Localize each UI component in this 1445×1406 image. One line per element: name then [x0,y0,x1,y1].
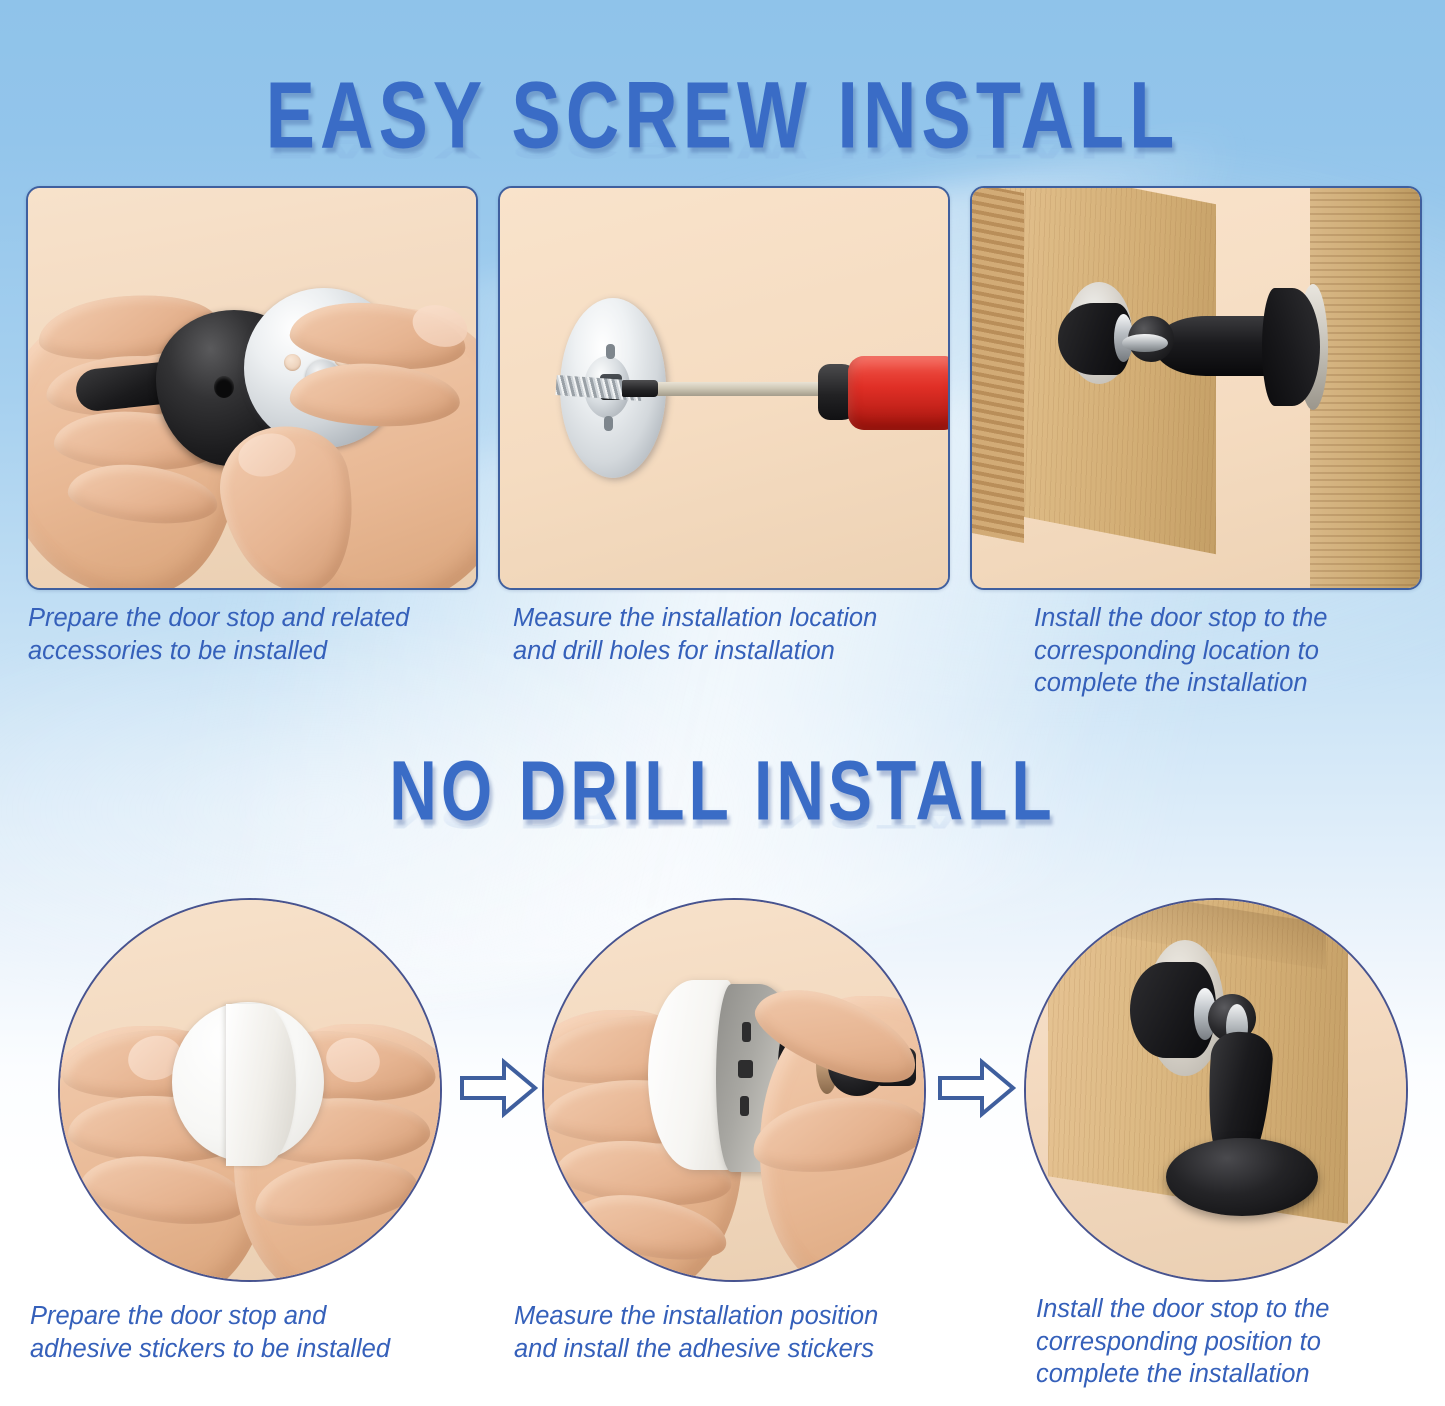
photo-installed-door-stop-screw [970,186,1422,590]
photo-apply-adhesive-sticker [542,898,926,1282]
step-caption: Measure the installation location and dr… [513,602,973,667]
step-caption: Install the door stop to the correspondi… [1034,602,1434,700]
sticker-peel-flap [226,1004,296,1166]
photo-drill-and-screw-plate [498,186,950,590]
door-stop-base [1166,1138,1318,1216]
wooden-door-edge [1310,186,1422,590]
screwdriver-tip [622,380,658,397]
photo-prepare-door-stop-accessories [26,186,478,590]
step-caption: Prepare the door stop and related access… [28,602,483,667]
photo-peel-adhesive-sticker [58,898,442,1282]
screwdriver-shaft [648,382,830,396]
wood-ridged-edge [972,186,1024,543]
product-instruction-infographic: EASY SCREW INSTALL EASY SCREW INSTALL [0,0,1445,1406]
arrow-right-icon [938,1056,1016,1120]
photo-installed-door-stop-no-drill [1024,898,1408,1282]
no-drill-step-row [0,898,1445,1286]
screw-install-step-row [26,186,1422,590]
heading-reflection-nodrill: NO DRILL INSTALL [0,834,1445,900]
arrow-right-icon [460,1056,538,1120]
step-caption: Prepare the door stop and adhesive stick… [30,1300,490,1365]
step-caption: Install the door stop to the correspondi… [1036,1293,1436,1391]
step-caption: Measure the installation position and in… [514,1300,974,1365]
red-screwdriver-handle [848,356,950,430]
section-heading-no-drill-install: NO DRILL INSTALL [0,748,1445,814]
section-heading-easy-screw-install: EASY SCREW INSTALL [0,68,1445,142]
